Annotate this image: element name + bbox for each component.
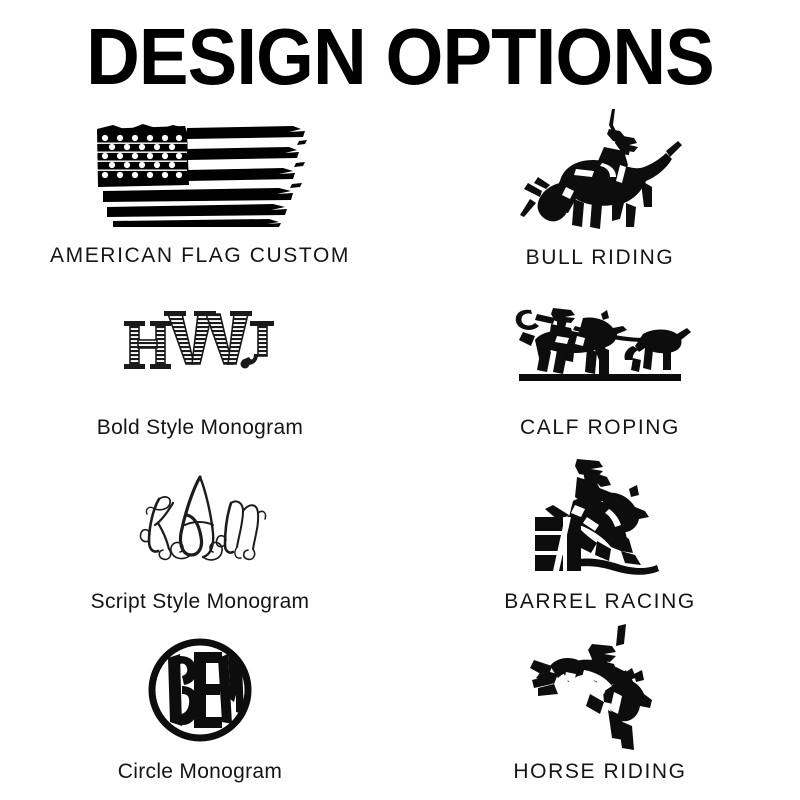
circle-monogram-icon xyxy=(146,636,254,744)
calf-roping-silhouette-icon xyxy=(505,296,695,388)
design-option-american-flag-custom[interactable]: AMERICAN FLAG CUSTOM xyxy=(0,112,400,284)
design-option-label: AMERICAN FLAG CUSTOM xyxy=(50,244,350,268)
design-option-label: Script Style Monogram xyxy=(91,590,310,614)
calf-roping-art xyxy=(400,284,800,400)
design-option-label: Bold Style Monogram xyxy=(97,416,303,440)
bull-riding-silhouette-icon xyxy=(516,107,684,247)
design-option-bold-style-monogram[interactable]: Bold Style Monogram xyxy=(0,284,400,456)
bold-monogram-art xyxy=(0,284,400,402)
design-option-label: BARREL RACING xyxy=(504,590,696,614)
script-monogram-icon xyxy=(125,469,275,569)
design-option-label: HORSE RIDING xyxy=(513,760,686,784)
design-option-label: BULL RIDING xyxy=(526,246,675,270)
design-option-circle-monogram[interactable]: Circle Monogram xyxy=(0,628,400,800)
design-options-grid: AMERICAN FLAG CUSTOM xyxy=(0,112,800,800)
design-option-script-style-monogram[interactable]: Script Style Monogram xyxy=(0,456,400,628)
design-option-barrel-racing[interactable]: BARREL RACING xyxy=(400,456,800,628)
american-flag-art xyxy=(0,112,400,238)
circle-monogram-art xyxy=(0,628,400,752)
barrel-racing-silhouette-icon xyxy=(525,455,675,587)
page-title: DESIGN OPTIONS xyxy=(28,14,772,100)
distressed-american-flag-icon xyxy=(93,123,308,227)
design-option-label: CALF ROPING xyxy=(520,416,680,440)
horse-riding-art xyxy=(400,628,800,756)
horse-riding-silhouette-icon xyxy=(530,622,670,762)
design-option-calf-roping[interactable]: CALF ROPING xyxy=(400,284,800,456)
bull-riding-art xyxy=(400,112,800,242)
design-option-label: Circle Monogram xyxy=(118,760,282,784)
design-option-horse-riding[interactable]: HORSE RIDING xyxy=(400,628,800,800)
bold-monogram-icon xyxy=(120,306,280,380)
design-option-bull-riding[interactable]: BULL RIDING xyxy=(400,112,800,284)
script-monogram-art xyxy=(0,456,400,582)
barrel-racing-art xyxy=(400,456,800,586)
